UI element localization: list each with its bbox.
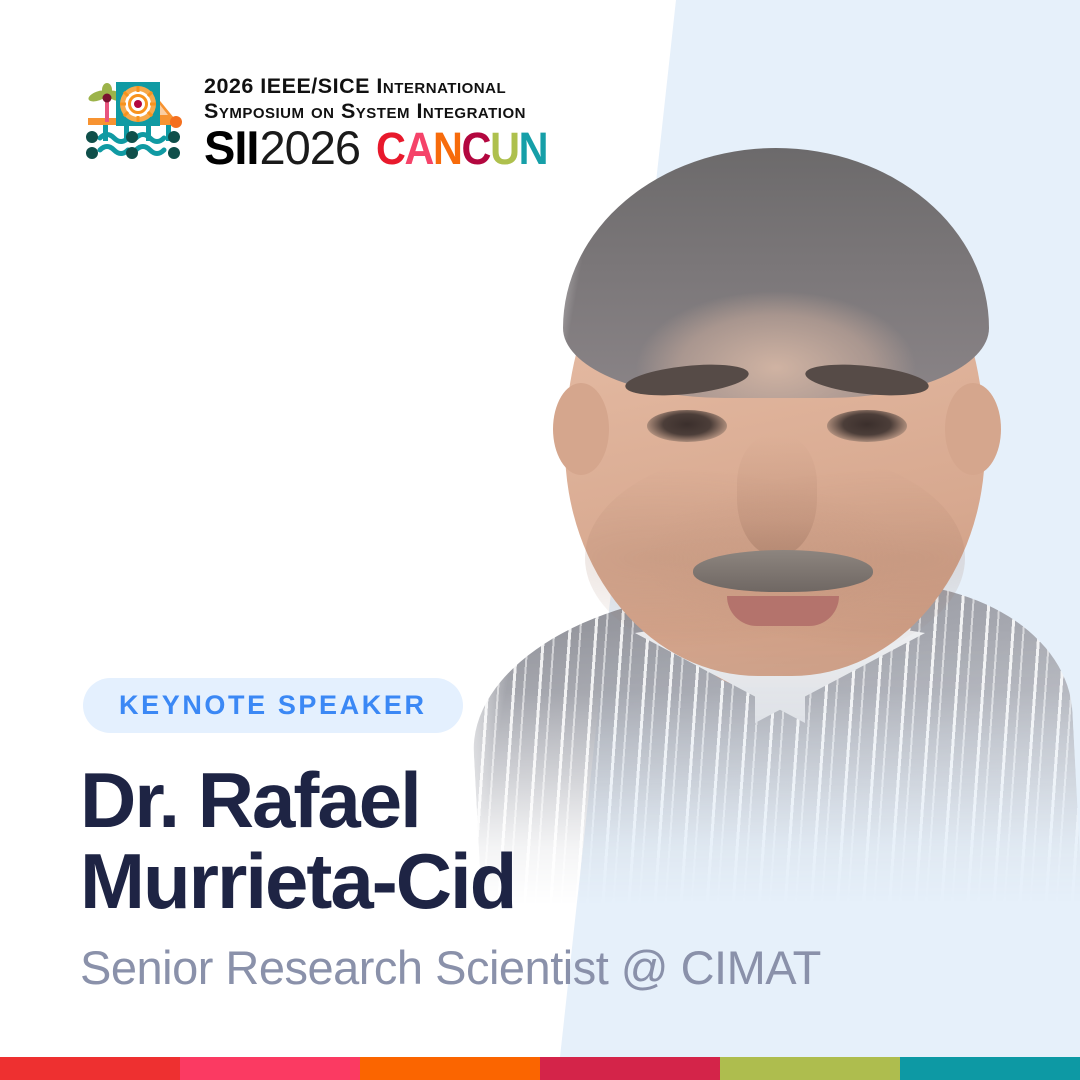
logo-wordmark-year: 2026	[259, 124, 360, 171]
speaker-name: Dr. Rafael Murrieta-Cid	[80, 760, 680, 922]
keynote-speaker-poster: 2026 IEEE/SICE International Symposium o…	[0, 0, 1080, 1080]
conference-logo[interactable]: 2026 IEEE/SICE International Symposium o…	[78, 74, 562, 171]
footer-segment-red	[0, 1057, 180, 1080]
status-badge: KEYNOTE SPEAKER	[83, 678, 463, 733]
portrait-eye-right	[827, 410, 907, 442]
logo-cancun-letter-2: N	[433, 123, 462, 174]
logo-wordmark-cancun: CANCUN	[376, 126, 547, 171]
footer-segment-olive	[720, 1057, 900, 1080]
logo-cancun-letter-5: N	[519, 123, 548, 174]
sii-cancun-logo-icon	[78, 74, 190, 166]
portrait-mustache	[693, 550, 873, 592]
portrait-nose	[737, 436, 817, 556]
portrait-mouth	[727, 596, 839, 626]
portrait-ear-left	[553, 383, 609, 475]
logo-wordmark: SII 2026 CANCUN	[204, 124, 562, 171]
speaker-affiliation: Senior Research Scientist @ CIMAT	[80, 940, 821, 995]
logo-cancun-letter-3: C	[462, 123, 491, 174]
logo-cancun-letter-0: C	[376, 123, 405, 174]
footer-segment-orange	[360, 1057, 540, 1080]
logo-title-line-2: Symposium on System Integration	[204, 101, 562, 123]
footer-segment-pink	[180, 1057, 360, 1080]
portrait-ear-right	[945, 383, 1001, 475]
logo-text-block: 2026 IEEE/SICE International Symposium o…	[204, 74, 562, 171]
logo-wordmark-sii: SII	[204, 124, 258, 171]
footer-color-bar	[0, 1057, 1080, 1080]
logo-cancun-letter-4: U	[490, 123, 519, 174]
status-badge-label: KEYNOTE SPEAKER	[119, 690, 427, 721]
footer-segment-crimson	[540, 1057, 720, 1080]
logo-title-line-1: 2026 IEEE/SICE International	[204, 76, 562, 98]
footer-segment-teal	[900, 1057, 1080, 1080]
logo-cancun-letter-1: A	[405, 123, 434, 174]
portrait-eye-left	[647, 410, 727, 442]
portrait-hair	[563, 148, 989, 398]
